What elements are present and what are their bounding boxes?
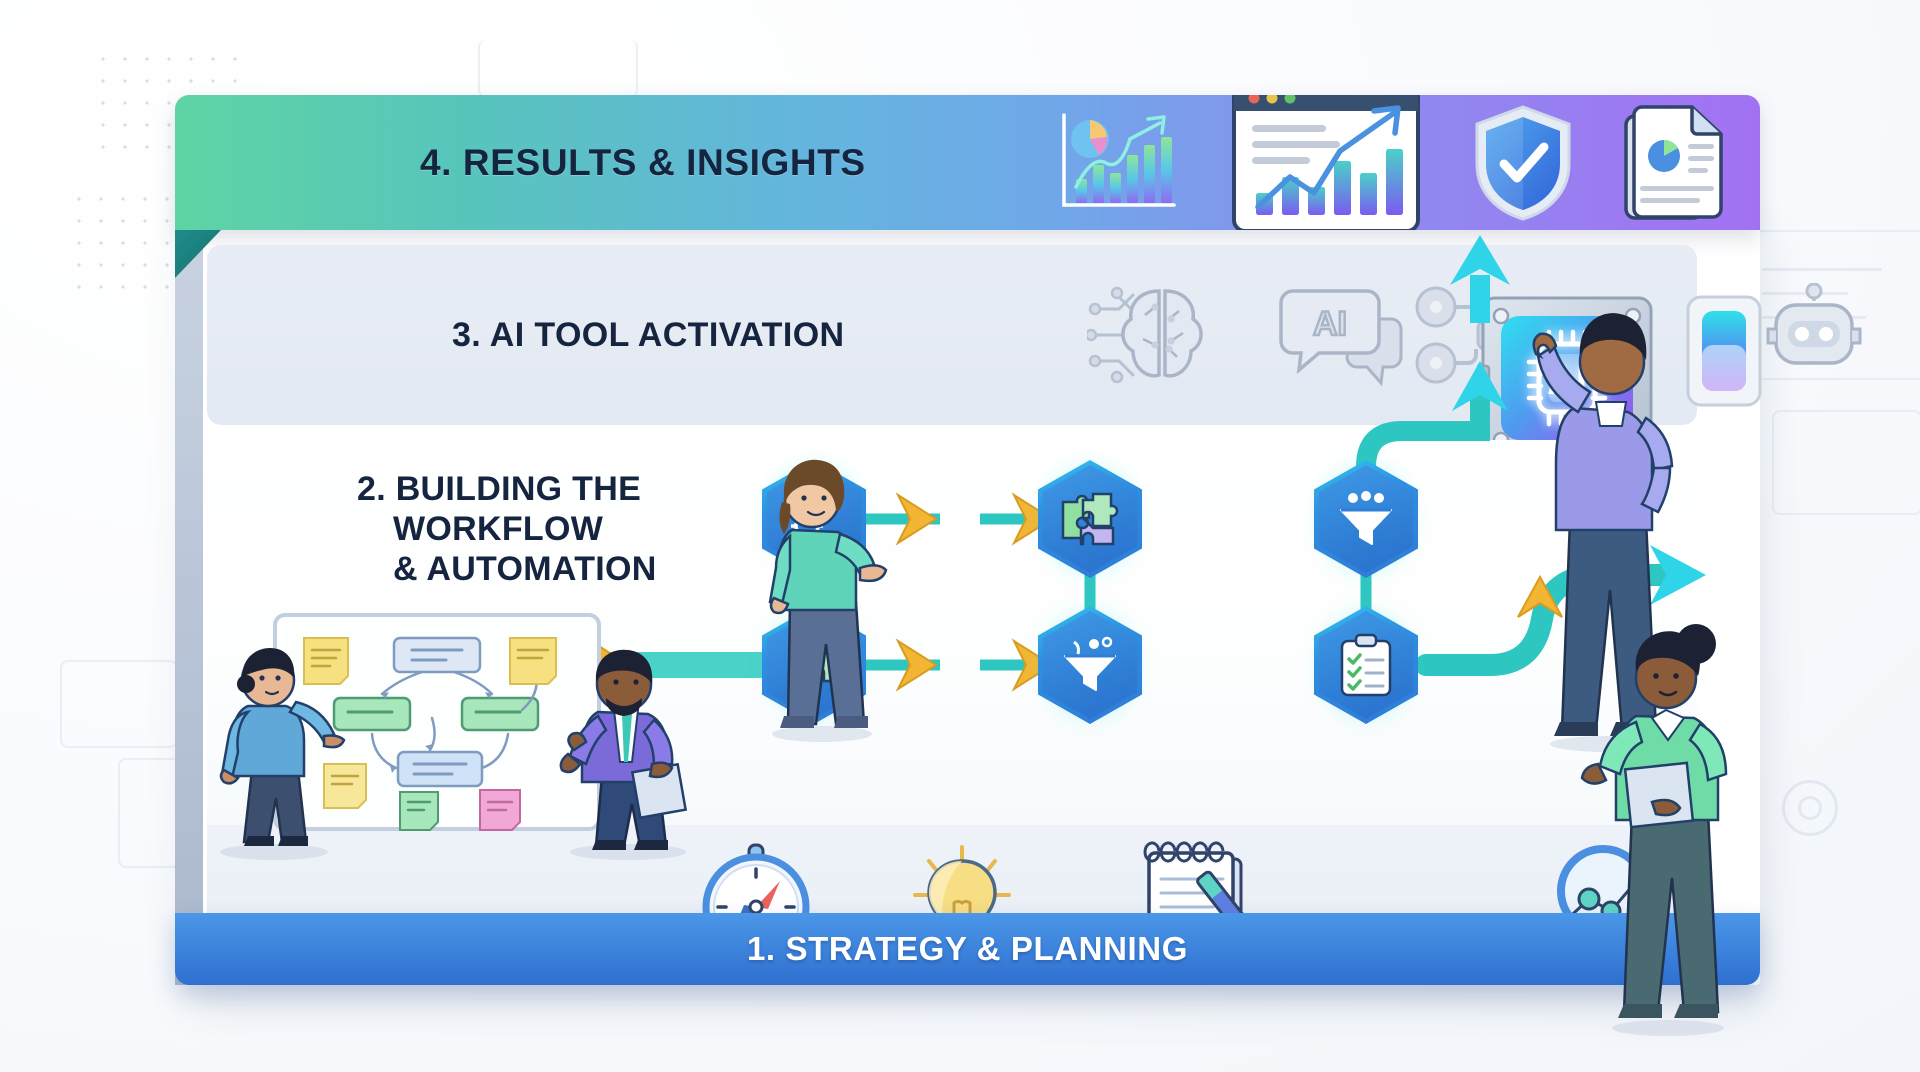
dashboard-window-icon — [1228, 95, 1424, 230]
ai-chat-label: AI — [1313, 305, 1347, 343]
band-workflow-title: 2. BUILDING THE WORKFLOW & AUTOMATION — [357, 470, 657, 589]
board-left-edge — [175, 215, 203, 985]
sticky-note — [480, 790, 520, 830]
band-results-insights[interactable]: 4. RESULTS & INSIGHTS — [175, 95, 1760, 230]
sticky-note — [400, 792, 438, 830]
person-workflow — [756, 452, 906, 742]
shield-check-icon — [1470, 102, 1576, 224]
band-ai-title: 3. AI TOOL ACTIVATION — [452, 316, 845, 355]
analytics-chart-icon — [1052, 107, 1182, 219]
band-strategy-title: 1. STRATEGY & PLANNING — [747, 930, 1188, 968]
ghost-gear-inner-icon — [1798, 796, 1822, 820]
band-results-icon-row — [1052, 95, 1726, 230]
person-results — [1570, 618, 1760, 1038]
band-ai-tool-activation[interactable]: 3. AI TOOL ACTIVATION — [207, 245, 1697, 425]
ghost-window-right-2 — [1772, 410, 1920, 515]
person-whiteboard-right — [540, 640, 720, 860]
ghost-window-right-line-1 — [1762, 268, 1882, 271]
band-results-title: 4. RESULTS & INSIGHTS — [420, 142, 866, 184]
robot-head-icon — [1762, 283, 1866, 392]
report-document-icon — [1622, 102, 1726, 224]
band-workflow-title-line-1: 2. BUILDING THE — [357, 470, 657, 510]
ai-brain-circuit-icon — [1087, 275, 1237, 400]
person-whiteboard-left — [200, 640, 360, 860]
ai-chat-bubble-icon: AI — [1279, 283, 1409, 393]
band-strategy-planning[interactable]: 1. STRATEGY & PLANNING — [175, 913, 1760, 985]
band-workflow-title-line-2: WORKFLOW — [393, 510, 657, 550]
ghost-frame-top — [478, 40, 638, 98]
band-workflow-title-line-3: & AUTOMATION — [393, 550, 657, 590]
